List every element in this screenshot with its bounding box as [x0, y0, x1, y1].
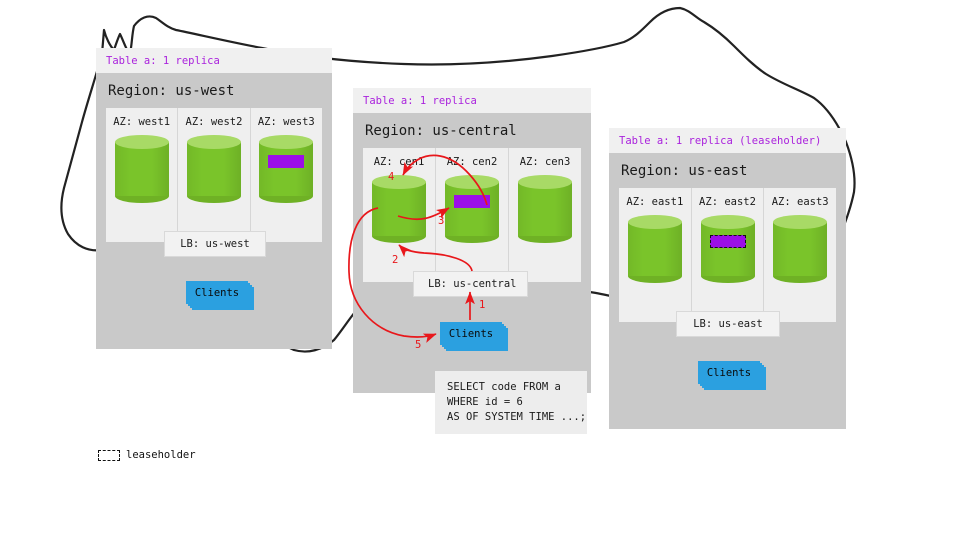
- region-title-us-east: Region: us-east: [609, 153, 846, 188]
- clients-stack-us-central[interactable]: Clients: [440, 322, 502, 345]
- az-cell-east1[interactable]: AZ: east1: [619, 188, 692, 322]
- az-cell-cen1[interactable]: AZ: cen1: [363, 148, 436, 282]
- legend-label: leaseholder: [126, 449, 196, 461]
- node-cylinder-east1[interactable]: [628, 215, 682, 283]
- replica-badge-cen2: [454, 195, 490, 208]
- clients-label-us-east: Clients: [698, 361, 760, 384]
- az-label-cen1: AZ: cen1: [374, 156, 425, 168]
- az-label-west3: AZ: west3: [258, 116, 315, 128]
- node-cylinder-cen1[interactable]: [372, 175, 426, 243]
- panel-header-us-west: Table a: 1 replica: [96, 48, 332, 73]
- node-cylinder-west1[interactable]: [115, 135, 169, 203]
- az-label-east2: AZ: east2: [699, 196, 756, 208]
- node-cylinder-cen2[interactable]: [445, 175, 499, 243]
- az-label-west2: AZ: west2: [186, 116, 243, 128]
- legend: leaseholder: [98, 449, 196, 461]
- sql-query-note: SELECT code FROM a WHERE id = 6 AS OF SY…: [435, 371, 587, 434]
- az-row-us-central: AZ: cen1 AZ: cen2 AZ: cen3: [363, 148, 581, 282]
- az-cell-cen3[interactable]: AZ: cen3: [509, 148, 581, 282]
- region-title-us-west: Region: us-west: [96, 73, 332, 108]
- az-cell-west2[interactable]: AZ: west2: [178, 108, 250, 242]
- replica-badge-west3: [268, 155, 304, 168]
- panel-header-us-east: Table a: 1 replica (leaseholder): [609, 128, 846, 153]
- az-label-east3: AZ: east3: [772, 196, 829, 208]
- az-row-us-west: AZ: west1 AZ: west2 AZ: west3: [106, 108, 322, 242]
- az-label-west1: AZ: west1: [113, 116, 170, 128]
- node-cylinder-east2[interactable]: [701, 215, 755, 283]
- az-cell-west3[interactable]: AZ: west3: [251, 108, 322, 242]
- diagram-canvas: Table a: 1 replica Region: us-west AZ: w…: [0, 0, 960, 540]
- node-cylinder-west2[interactable]: [187, 135, 241, 203]
- clients-label-us-central: Clients: [440, 322, 502, 345]
- node-cylinder-west3[interactable]: [259, 135, 313, 203]
- load-balancer-us-east[interactable]: LB: us-east: [676, 311, 780, 337]
- node-cylinder-east3[interactable]: [773, 215, 827, 283]
- clients-label-us-west: Clients: [186, 281, 248, 304]
- az-cell-east3[interactable]: AZ: east3: [764, 188, 836, 322]
- az-cell-east2[interactable]: AZ: east2: [692, 188, 765, 322]
- panel-body-us-central: Region: us-central AZ: cen1 AZ: cen2: [353, 113, 591, 393]
- az-label-east1: AZ: east1: [626, 196, 683, 208]
- az-label-cen2: AZ: cen2: [447, 156, 498, 168]
- clients-stack-us-west[interactable]: Clients: [186, 281, 248, 304]
- node-cylinder-cen3[interactable]: [518, 175, 572, 243]
- clients-stack-us-east[interactable]: Clients: [698, 361, 760, 384]
- region-title-us-central: Region: us-central: [353, 113, 591, 148]
- az-label-cen3: AZ: cen3: [520, 156, 571, 168]
- replica-badge-leaseholder-east2: [710, 235, 746, 248]
- panel-header-us-central: Table a: 1 replica: [353, 88, 591, 113]
- dashed-rect-icon: [98, 450, 120, 461]
- az-cell-west1[interactable]: AZ: west1: [106, 108, 178, 242]
- az-cell-cen2[interactable]: AZ: cen2: [436, 148, 509, 282]
- load-balancer-us-west[interactable]: LB: us-west: [164, 231, 266, 257]
- load-balancer-us-central[interactable]: LB: us-central: [413, 271, 528, 297]
- az-row-us-east: AZ: east1 AZ: east2 AZ: east3: [619, 188, 836, 322]
